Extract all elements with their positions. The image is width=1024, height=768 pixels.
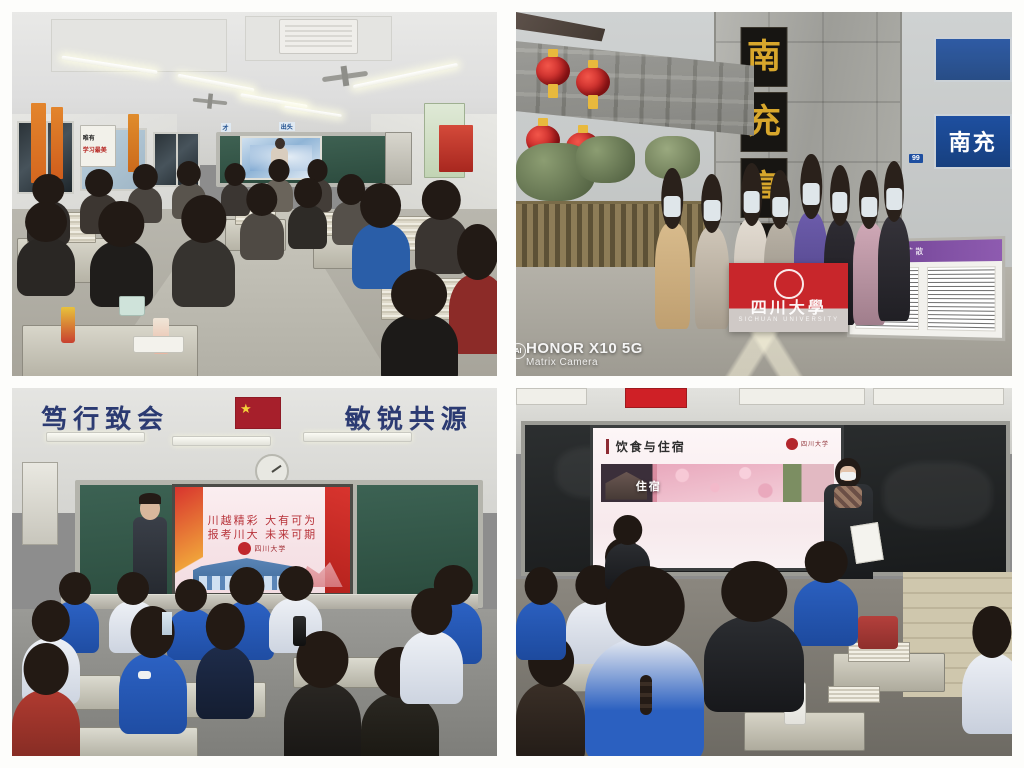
backpack (858, 616, 898, 649)
light-bar (172, 436, 271, 446)
student (119, 653, 187, 734)
cherry-blossom-photo (657, 464, 783, 502)
student (12, 690, 80, 756)
wall-poster (51, 107, 63, 180)
wall-panel (516, 388, 587, 405)
front-banner-right: 出头 (279, 122, 295, 131)
door (385, 132, 411, 185)
wall-cabinet (22, 462, 58, 545)
slide-logo-text: 四川大学 (254, 544, 286, 554)
photo-top-left[interactable]: 唯有 学习最美 才 出头 (12, 12, 497, 376)
light-bar (303, 432, 412, 442)
shrub (576, 136, 636, 183)
student (17, 238, 75, 296)
face-mask (840, 472, 856, 480)
wall-panel (739, 388, 865, 405)
university-banner: 四川大學 SICHUAN UNIVERSITY (729, 263, 848, 332)
banner-english-text: SICHUAN UNIVERSITY (738, 317, 839, 323)
student-visitor (695, 227, 730, 329)
red-lantern (536, 56, 570, 86)
slide-logo: 四川大学 (238, 542, 286, 555)
notebook (133, 336, 184, 353)
slide-logo: 四川大学 (786, 438, 829, 450)
photo-bottom-left[interactable]: 笃行致会 敏锐共源 ★ 川越精彩 大有可为 报考川大 未来可期 四川大学 (12, 388, 497, 756)
slide-heading: 饮食与住宿 (616, 438, 686, 455)
face-mask (138, 671, 151, 679)
slide-image-band: 住宿 (601, 464, 834, 502)
red-wall-panel (625, 388, 687, 408)
air-conditioner (279, 19, 359, 54)
flag-star-icon: ★ (240, 402, 252, 415)
university-seal-icon (238, 542, 251, 555)
water-bottle (162, 612, 172, 634)
thermos (293, 616, 306, 645)
classroom-front-female-scene: 饮食与住宿 四川大学 住宿 (516, 388, 1012, 756)
student (240, 212, 284, 259)
photo-top-right[interactable]: 南 充 高 中 南充 99 决 策 制 检 核 扩 散 (516, 12, 1012, 376)
wall-poster (31, 103, 46, 183)
photo-bottom-right[interactable]: 饮食与住宿 四川大学 住宿 (516, 388, 1012, 756)
light-bar (46, 432, 145, 442)
handout-papers (850, 522, 884, 564)
student (794, 579, 858, 645)
student (196, 646, 254, 720)
slide-band-label: 住宿 (636, 478, 662, 494)
scarf (834, 486, 862, 508)
student (284, 682, 362, 756)
banner-chinese-text: 四川大學 (751, 294, 827, 318)
student (172, 238, 235, 307)
ceiling-panel (51, 19, 228, 72)
blue-sign-upper (934, 37, 1012, 81)
address-plate: 99 (909, 154, 923, 163)
slogan-plaque-text-2: 学习最美 (83, 145, 107, 154)
student (381, 314, 459, 376)
classroom-wide-scene: 唯有 学习最美 才 出头 (12, 12, 497, 376)
classroom-front-male-scene: 笃行致会 敏锐共源 ★ 川越精彩 大有可为 报考川大 未来可期 四川大学 (12, 388, 497, 756)
wall-calligraphy-right: 敏锐共源 (345, 399, 473, 436)
university-seal-icon (786, 438, 798, 450)
watermark-device: HONOR X10 5G (526, 340, 643, 357)
chalk-smudge (883, 462, 992, 528)
slide-accent-bar (606, 439, 609, 454)
wall-panel (873, 388, 1004, 405)
student (288, 205, 327, 249)
slogan-plaque-text-1: 唯有 (83, 133, 95, 142)
national-flag: ★ (235, 397, 281, 428)
wall-calligraphy-left: 笃行致会 (41, 399, 169, 436)
student (516, 682, 585, 756)
red-lantern (576, 67, 610, 97)
wall-poster (439, 125, 473, 172)
braided-hair (640, 675, 652, 715)
student-visitor (655, 223, 690, 329)
student (516, 601, 566, 660)
blue-sign: 南充 (934, 114, 1012, 169)
slide-logo-text: 四川大学 (801, 439, 829, 448)
student (962, 653, 1012, 734)
student (400, 631, 463, 705)
photo-collage: 唯有 学习最美 才 出头 (0, 0, 1024, 768)
book-stack (828, 686, 880, 703)
wall-poster (128, 114, 139, 172)
slide-line-2: 报考川大 未来可期 (175, 526, 350, 542)
school-gate-scene: 南 充 高 中 南充 99 决 策 制 检 核 扩 散 (516, 12, 1012, 376)
watermark-mode: Matrix Camera (526, 357, 643, 368)
front-banner-left: 才 (221, 123, 231, 132)
student-visitor (878, 216, 910, 322)
tissue-box (119, 296, 145, 316)
camera-watermark: AI HONOR X10 5G Matrix Camera (526, 340, 643, 368)
drink-bottle (61, 307, 76, 343)
student (704, 616, 803, 712)
